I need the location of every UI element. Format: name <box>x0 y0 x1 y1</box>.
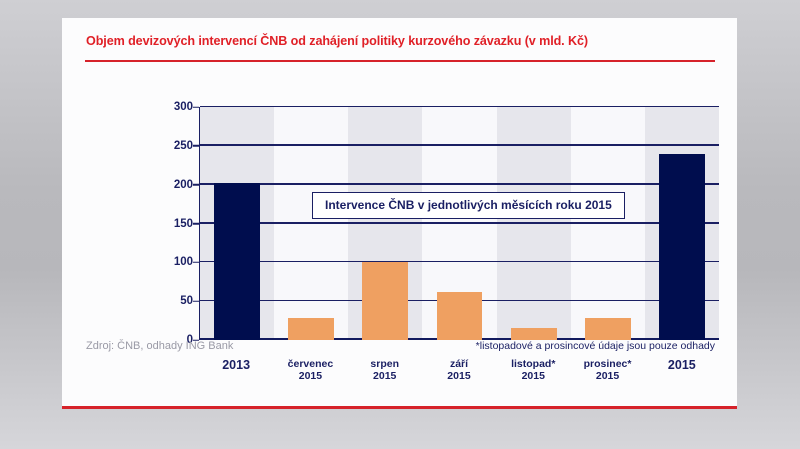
x-axis-label-main-1: červenec <box>273 358 347 370</box>
bar-červenec[interactable] <box>288 318 334 340</box>
title-divider <box>85 60 715 62</box>
source-note: Zdroj: ČNB, odhady ING Bank <box>86 340 233 352</box>
y-tick-label-200: 200 <box>174 179 193 191</box>
plot-area <box>199 107 719 340</box>
bar-slot-2 <box>348 107 422 340</box>
estimate-footnote: *listopadové a prosincové údaje jsou pou… <box>476 340 715 352</box>
bar-slot-6 <box>645 107 719 340</box>
bar-slot-5 <box>571 107 645 340</box>
bar-series <box>200 107 719 340</box>
x-axis-label-main-2: srpen <box>348 358 422 370</box>
legend-label: Intervence ČNB v jednotlivých měsících r… <box>312 192 625 219</box>
x-axis-label-main-0: 2013 <box>199 358 273 373</box>
x-axis-label-sub-4: 2015 <box>496 370 570 382</box>
y-tick-label-250: 250 <box>174 140 193 152</box>
bar-slot-4 <box>497 107 571 340</box>
x-axis-label-0: 2013 <box>199 358 273 383</box>
bar-2015[interactable] <box>659 154 705 340</box>
bar-srpen[interactable] <box>362 262 408 340</box>
bar-2013[interactable] <box>214 183 260 340</box>
y-tick-label-100: 100 <box>174 256 193 268</box>
x-axis-label-main-5: prosinec* <box>570 358 644 370</box>
x-axis-label-main-3: září <box>422 358 496 370</box>
chart-plot: 050100150200250300 2013červenec2015srpen… <box>135 89 719 353</box>
x-axis-label-sub-3: 2015 <box>422 370 496 382</box>
y-tick-label-50: 50 <box>180 295 193 307</box>
x-axis-label-4: listopad*2015 <box>496 358 570 383</box>
x-axis-label-2: srpen2015 <box>348 358 422 383</box>
x-axis-labels: 2013červenec2015srpen2015září2015listopa… <box>199 358 719 383</box>
bar-září[interactable] <box>437 292 483 340</box>
y-tick-label-150: 150 <box>174 218 193 230</box>
x-axis-label-3: září2015 <box>422 358 496 383</box>
chart-title: Objem devizových intervencí ČNB od zaháj… <box>86 34 721 48</box>
chart-card: Objem devizových intervencí ČNB od zaháj… <box>62 18 737 408</box>
y-axis-labels: 050100150200250300 <box>135 107 193 340</box>
bar-slot-3 <box>422 107 496 340</box>
card-bottom-divider <box>62 406 737 409</box>
bar-slot-1 <box>274 107 348 340</box>
bar-listopad[interactable] <box>511 328 557 340</box>
x-axis-label-1: červenec2015 <box>273 358 347 383</box>
x-axis-label-main-4: listopad* <box>496 358 570 370</box>
x-axis-label-sub-1: 2015 <box>273 370 347 382</box>
y-tick-label-300: 300 <box>174 101 193 113</box>
x-axis-label-main-6: 2015 <box>645 358 719 373</box>
x-axis-label-6: 2015 <box>645 358 719 383</box>
bar-slot-0 <box>200 107 274 340</box>
x-axis-label-sub-5: 2015 <box>570 370 644 382</box>
x-axis-label-5: prosinec*2015 <box>570 358 644 383</box>
x-axis-label-sub-2: 2015 <box>348 370 422 382</box>
bar-prosinec[interactable] <box>585 318 631 340</box>
